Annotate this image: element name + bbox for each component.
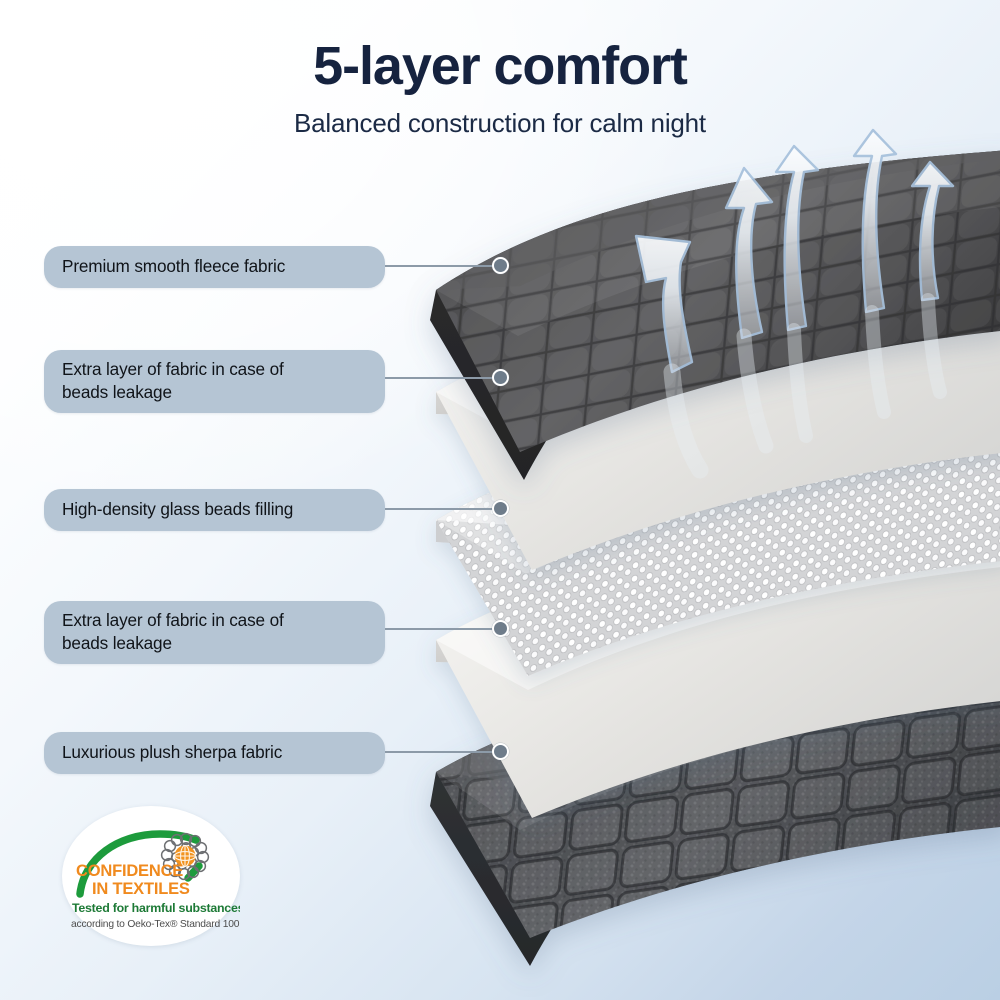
label-pill-sherpa[interactable]: Luxurious plush sherpa fabric bbox=[44, 732, 385, 774]
header: 5-layer comfort Balanced construction fo… bbox=[0, 38, 1000, 139]
connector-dot-4[interactable] bbox=[492, 620, 509, 637]
label-text-line1: Extra layer of fabric in case of bbox=[62, 609, 369, 632]
oeko-tex-badge[interactable]: CONFIDENCE IN TEXTILES Tested for harmfu… bbox=[62, 806, 240, 946]
label-text-line2: beads leakage bbox=[62, 632, 369, 655]
badge-line1: CONFIDENCE bbox=[76, 862, 183, 880]
label-pill-glass-beads[interactable]: High-density glass beads filling bbox=[44, 489, 385, 531]
label-pill-fleece[interactable]: Premium smooth fleece fabric bbox=[44, 246, 385, 288]
connector-dot-2[interactable] bbox=[492, 369, 509, 386]
connector-dot-3[interactable] bbox=[492, 500, 509, 517]
label-text-line2: beads leakage bbox=[62, 381, 369, 404]
badge-line2: IN TEXTILES bbox=[92, 880, 190, 898]
connector-dot-5[interactable] bbox=[492, 743, 509, 760]
label-text: Premium smooth fleece fabric bbox=[62, 256, 285, 276]
infographic-canvas: 5-layer comfort Balanced construction fo… bbox=[0, 0, 1000, 1000]
connector-line-1 bbox=[385, 265, 500, 267]
label-text: Luxurious plush sherpa fabric bbox=[62, 742, 282, 762]
connector-line-5 bbox=[385, 751, 500, 753]
label-pill-lining-top[interactable]: Extra layer of fabric in case of beads l… bbox=[44, 350, 385, 413]
page-title: 5-layer comfort bbox=[0, 38, 1000, 94]
badge-line3: Tested for harmful substances bbox=[72, 901, 240, 915]
badge-line4: according to Oeko-Tex® Standard 100 bbox=[71, 919, 240, 930]
badge-graphic: CONFIDENCE IN TEXTILES Tested for harmfu… bbox=[62, 806, 240, 946]
connector-dot-1[interactable] bbox=[492, 257, 509, 274]
connector-line-3 bbox=[385, 508, 500, 510]
label-pill-lining-bottom[interactable]: Extra layer of fabric in case of beads l… bbox=[44, 601, 385, 664]
connector-line-2 bbox=[385, 377, 500, 379]
label-text: High-density glass beads filling bbox=[62, 499, 293, 519]
page-subtitle: Balanced construction for calm night bbox=[0, 108, 1000, 139]
label-text-line1: Extra layer of fabric in case of bbox=[62, 358, 369, 381]
connector-line-4 bbox=[385, 628, 500, 630]
